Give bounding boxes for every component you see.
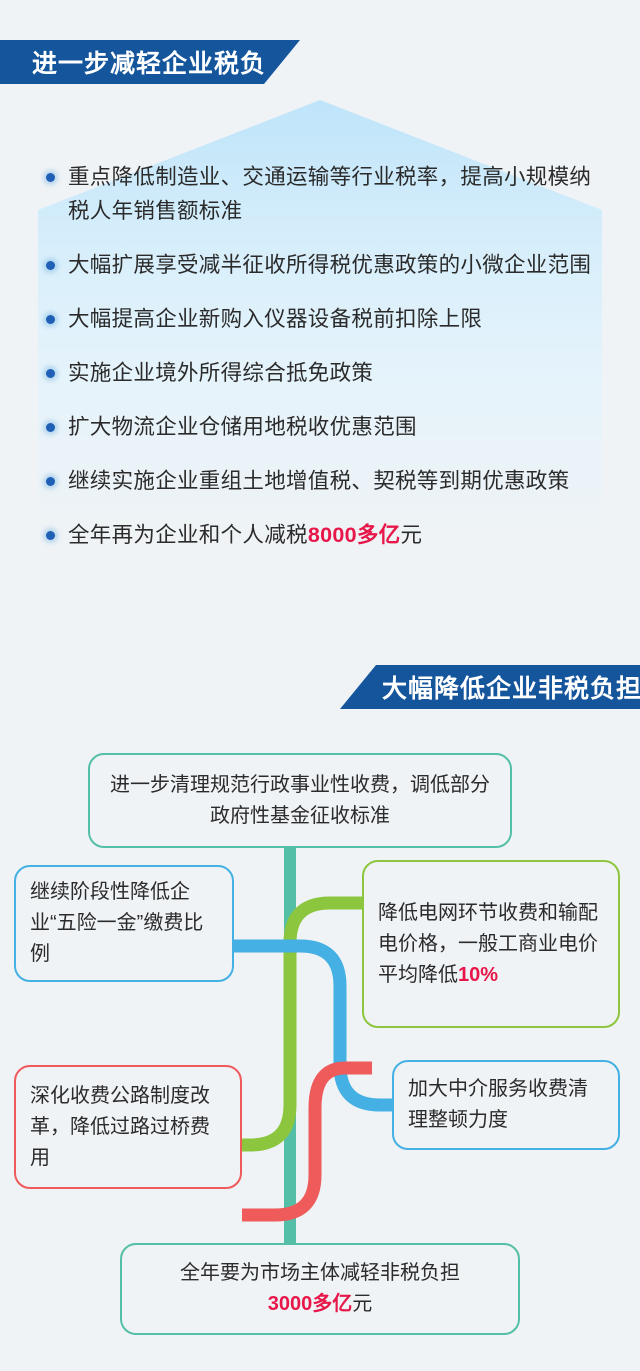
bullet-highlight: 8000多亿 bbox=[308, 523, 401, 547]
node-text: 进一步清理规范行政事业性收费，调低部分政府性基金征收标准 bbox=[104, 770, 496, 832]
bullet-dot-icon bbox=[46, 261, 55, 270]
flow-diagram: 进一步清理规范行政事业性收费，调低部分政府性基金征收标准 继续阶段性降低企业“五… bbox=[0, 735, 640, 1355]
node-social-insurance: 继续阶段性降低企业“五险一金”缴费比例 bbox=[14, 865, 234, 982]
section-banner-non-tax-burden: 大幅降低企业非税负担 bbox=[340, 665, 640, 709]
node-total-reduction: 全年要为市场主体减轻非税负担3000多亿元 bbox=[120, 1243, 520, 1335]
node-toll-roads: 深化收费公路制度改革，降低过路过桥费用 bbox=[14, 1065, 242, 1189]
bullet-dot-icon bbox=[46, 315, 55, 324]
bullet-text: 扩大物流企业仓储用地税收优惠范围 bbox=[68, 410, 417, 444]
node-text: 深化收费公路制度改革，降低过路过桥费用 bbox=[30, 1081, 226, 1174]
bullet-dot-icon bbox=[46, 423, 55, 432]
list-item: 大幅扩展享受减半征收所得税优惠政策的小微企业范围 bbox=[46, 248, 606, 282]
list-item: 继续实施企业重组土地增值税、契税等到期优惠政策 bbox=[46, 464, 606, 498]
node-highlight: 10% bbox=[458, 964, 498, 986]
node-electricity-price: 降低电网环节收费和输配电价格，一般工商业电价平均降低10% bbox=[362, 860, 620, 1028]
bullet-dot-icon bbox=[46, 173, 55, 182]
list-item: 大幅提高企业新购入仪器设备税前扣除上限 bbox=[46, 302, 606, 336]
list-item: 全年再为企业和个人减税8000多亿元 bbox=[46, 518, 606, 552]
node-text: 全年要为市场主体减轻非税负担3000多亿元 bbox=[136, 1258, 504, 1320]
bullet-text: 重点降低制造业、交通运输等行业税率，提高小规模纳税人年销售额标准 bbox=[68, 160, 606, 228]
node-highlight: 3000多亿 bbox=[268, 1293, 353, 1315]
bullet-list: 重点降低制造业、交通运输等行业税率，提高小规模纳税人年销售额标准 大幅扩展享受减… bbox=[46, 160, 606, 572]
list-item: 扩大物流企业仓储用地税收优惠范围 bbox=[46, 410, 606, 444]
bullet-dot-icon bbox=[46, 531, 55, 540]
node-text: 降低电网环节收费和输配电价格，一般工商业电价平均降低10% bbox=[378, 898, 604, 991]
bullet-text: 大幅提高企业新购入仪器设备税前扣除上限 bbox=[68, 302, 482, 336]
list-item: 实施企业境外所得综合抵免政策 bbox=[46, 356, 606, 390]
bullet-text: 大幅扩展享受减半征收所得税优惠政策的小微企业范围 bbox=[68, 248, 591, 282]
bullet-dot-icon bbox=[46, 369, 55, 378]
list-item: 重点降低制造业、交通运输等行业税率，提高小规模纳税人年销售额标准 bbox=[46, 160, 606, 228]
node-text: 继续阶段性降低企业“五险一金”缴费比例 bbox=[30, 877, 218, 970]
bullet-text: 全年再为企业和个人减税8000多亿元 bbox=[68, 518, 422, 552]
infographic-page: 进一步减轻企业税负 重点降低制造业、交通运输等行业税率，提高小规模纳税人年销售额… bbox=[0, 0, 640, 1371]
bullet-text: 实施企业境外所得综合抵免政策 bbox=[68, 356, 373, 390]
bullet-dot-icon bbox=[46, 477, 55, 486]
node-intermediary-fees: 加大中介服务收费清理整顿力度 bbox=[392, 1060, 620, 1150]
node-admin-fees: 进一步清理规范行政事业性收费，调低部分政府性基金征收标准 bbox=[88, 753, 512, 848]
section-banner-tax-burden: 进一步减轻企业税负 bbox=[0, 40, 300, 84]
bullet-text: 继续实施企业重组土地增值税、契税等到期优惠政策 bbox=[68, 464, 569, 498]
node-text: 加大中介服务收费清理整顿力度 bbox=[408, 1074, 604, 1136]
